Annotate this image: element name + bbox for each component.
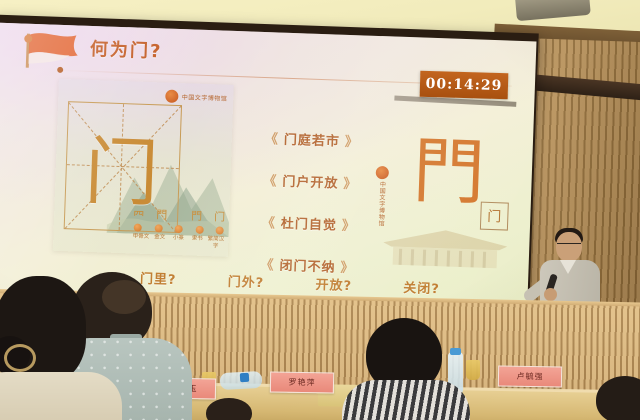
evolution-dot-icon [154,224,162,232]
lecture-hall-photo: 何为门? 中国文字博物馆 [0,0,640,420]
audience-member [0,276,128,420]
museum-seal-icon [376,166,389,179]
right-character-card: 門 门 中国文字博物馆 [370,92,526,275]
evolution-glyph: 门 [214,209,226,225]
bracket-left: 《 [265,128,280,147]
evolution-label: 甲骨文 [132,234,149,248]
idiom-text: 门庭若市 [284,129,341,150]
slide-title: 何为门? [90,35,163,64]
evolution-dot-icon [195,226,203,234]
bracket-right: 》 [345,131,360,150]
museum-logo-vertical: 中国文字博物馆 [374,166,389,227]
evolution-label: 繁简汉字 [207,236,224,250]
paper-cup [466,360,480,380]
presenter-hand-holding-mic [544,288,557,301]
evolution-dot-icon [134,224,142,232]
evolution-glyph-row: 𦉪 門 𨳇 門 门 [133,206,226,225]
question-item: 关闭? [403,277,440,297]
red-flag-icon [11,29,86,72]
idiom-item: 《 门庭若市 》 [247,127,378,151]
audience-member [596,376,640,420]
question-item: 开放? [315,274,352,294]
evolution-glyph: 𦉪 [133,206,145,222]
bracket-left: 《 [263,170,278,189]
name-card: 卢毓强 [498,365,562,387]
museum-label: 中国文字博物馆 [182,92,228,103]
projection-screen: 何为门? 中国文字博物馆 [0,23,536,312]
evolution-label: 隶书 [188,236,205,250]
bracket-left: 《 [260,254,275,273]
countdown-timer: 00:14:29 [420,71,509,99]
evolution-label: 小篆 [170,235,187,249]
museum-building-art [378,226,511,273]
evolution-label-row: 甲骨文 金文 小篆 隶书 繁简汉字 [132,234,224,251]
evolution-glyph: 門 [191,208,203,224]
audience-member [348,318,468,420]
left-character-card: 中国文字博物馆 门 𦉪 門 𨳇 門 门 [53,79,234,257]
bracket-right: 》 [343,173,358,192]
bottle-cap [240,373,249,382]
museum-logo: 中国文字博物馆 [166,90,228,105]
modern-character-box: 门 [480,202,509,231]
audience-head [596,376,640,420]
hair-clip-icon [4,344,36,372]
character-evolution: 𦉪 門 𨳇 門 门 甲骨文 金文 [132,206,225,251]
audience-torso [0,372,122,420]
museum-seal-icon [166,90,179,103]
museum-label: 中国文字博物馆 [376,181,387,227]
ancient-character: 門 [392,115,505,215]
audience-head [206,398,252,420]
bracket-right: 》 [342,215,357,234]
name-card: 罗艳萍 [270,371,334,393]
evolution-dot-icon [216,227,224,235]
evolution-glyph: 門 [156,207,168,223]
question-item: 门外? [227,271,264,291]
bracket-right: 》 [340,257,355,276]
audience-member [206,398,252,420]
glasses-icon [557,243,581,249]
idiom-item: 《 杜门自觉 》 [244,211,375,235]
projection-screen-frame: 何为门? 中国文字博物馆 [0,15,539,316]
idiom-text: 门户开放 [282,171,339,192]
evolution-label: 金文 [151,234,168,248]
idiom-text: 杜门自觉 [281,213,338,234]
audience-torso [342,380,470,420]
idiom-item: 《 门户开放 》 [245,169,376,193]
evolution-glyph: 𨳇 [179,207,180,223]
evolution-dot-icon [175,225,183,233]
bracket-left: 《 [262,212,277,231]
